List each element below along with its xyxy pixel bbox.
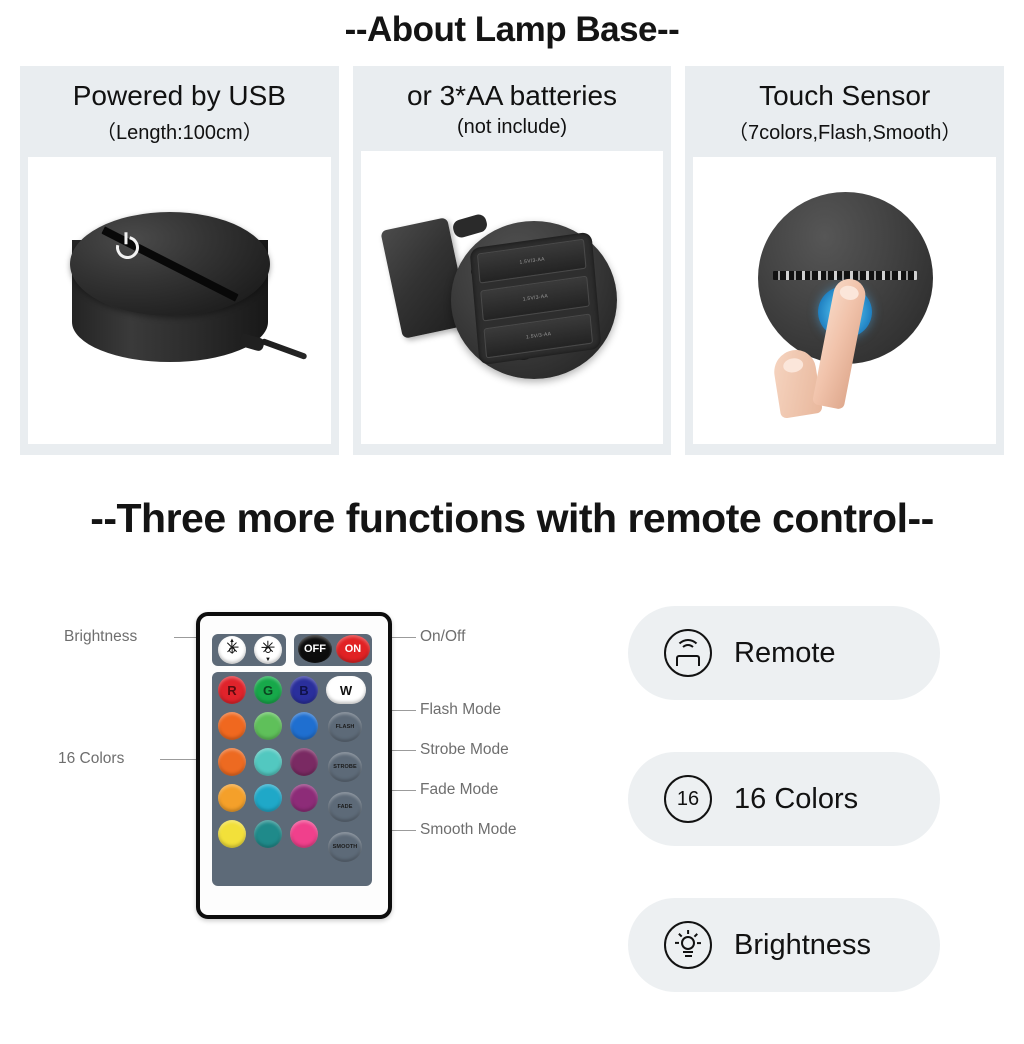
lamp-base-touch-sensor-photo <box>693 157 996 444</box>
battery-compartment-illustration: 1.5V/3-AA 1.5V/3-AA 1.5V/3-AA <box>387 203 637 393</box>
color-button-6[interactable] <box>290 748 318 776</box>
panel-title: Powered by USB <box>73 80 286 111</box>
lamp-base-illustration <box>54 206 304 396</box>
brightness-up-button[interactable]: ▲ <box>218 636 246 664</box>
page-title-about-lamp-base: --About Lamp Base-- <box>0 0 1024 47</box>
panel-aa-batteries: or 3*AA batteries (not include) 1.5V/3-A… <box>353 66 672 455</box>
feature-card-label: Brightness <box>734 929 871 962</box>
lamp-base-top <box>70 212 270 316</box>
color-button-r[interactable]: R <box>218 676 246 704</box>
panel-title: Touch Sensor <box>759 80 930 111</box>
panel-title: or 3*AA batteries <box>407 80 617 111</box>
color-button-2[interactable] <box>254 712 282 740</box>
remote-control-body[interactable]: ▲ ▼ OFF ON R G B <box>196 612 392 919</box>
callout-smooth-mode: Smooth Mode <box>420 821 517 839</box>
panel-touch-sensor: Touch Sensor （7colors,Flash,Smooth） <box>685 66 1004 455</box>
panel-powered-by-usb: Powered by USB （Length:100cm） <box>20 66 339 455</box>
color-button-7[interactable] <box>218 784 246 812</box>
color-button-b[interactable]: B <box>290 676 318 704</box>
callout-fade-mode: Fade Mode <box>420 781 498 799</box>
page-title-three-functions: --Three more functions with remote contr… <box>0 498 1024 539</box>
color-button-11[interactable] <box>254 820 282 848</box>
color-button-9[interactable] <box>290 784 318 812</box>
sun-up-icon: ▲ <box>226 644 239 657</box>
color-button-g[interactable]: G <box>254 676 282 704</box>
sixteen-badge-icon: 16 <box>664 775 712 823</box>
flash-button[interactable]: FLASH <box>328 712 362 742</box>
brightness-down-button[interactable]: ▼ <box>254 636 282 664</box>
panel-subtitle: （Length:100cm） <box>96 116 263 145</box>
sixteen-badge-text: 16 <box>677 788 699 811</box>
battery-slot: 1.5V/3-AA <box>481 275 591 320</box>
panel-subtitle: （7colors,Flash,Smooth） <box>728 116 961 145</box>
feature-card-label: 16 Colors <box>734 783 858 816</box>
usb-cable <box>261 338 308 360</box>
feature-card-brightness[interactable]: Brightness <box>628 898 940 992</box>
color-button-w[interactable]: W <box>326 676 366 704</box>
color-button-10[interactable] <box>218 820 246 848</box>
remote-control-section: Brightness 16 Colors On/Off Flash Mode S… <box>0 560 1024 1024</box>
feature-card-16-colors[interactable]: 16 16 Colors <box>628 752 940 846</box>
color-button-12[interactable] <box>290 820 318 848</box>
callout-strobe-mode: Strobe Mode <box>420 741 509 759</box>
callout-on-off: On/Off <box>420 628 465 646</box>
color-button-4[interactable] <box>218 748 246 776</box>
spec-panels-row: Powered by USB （Length:100cm） or 3*AA ba… <box>20 66 1004 455</box>
brightness-bulb-icon <box>664 921 712 969</box>
sun-down-icon: ▼ <box>262 644 275 657</box>
smooth-button[interactable]: SMOOTH <box>328 832 362 862</box>
feature-card-remote[interactable]: Remote <box>628 606 940 700</box>
callout-16-colors: 16 Colors <box>58 750 124 768</box>
feature-cards: Remote 16 16 Colors Brightness <box>628 606 940 1044</box>
fade-button[interactable]: FADE <box>328 792 362 822</box>
callout-flash-mode: Flash Mode <box>420 701 501 719</box>
battery-slot: 1.5V/3-AA <box>478 238 588 283</box>
lamp-base-underside: 1.5V/3-AA 1.5V/3-AA 1.5V/3-AA <box>451 221 617 379</box>
color-button-5[interactable] <box>254 748 282 776</box>
off-button[interactable]: OFF <box>298 635 332 663</box>
touch-sensor-illustration <box>720 190 970 400</box>
remote-diagram: Brightness 16 Colors On/Off Flash Mode S… <box>0 560 600 1024</box>
battery-bay: 1.5V/3-AA 1.5V/3-AA 1.5V/3-AA <box>470 231 602 365</box>
color-button-8[interactable] <box>254 784 282 812</box>
lamp-base-usb-photo <box>28 157 331 444</box>
lamp-base-battery-compartment-photo: 1.5V/3-AA 1.5V/3-AA 1.5V/3-AA <box>361 151 664 444</box>
color-button-3[interactable] <box>290 712 318 740</box>
battery-cover-hinge <box>451 212 489 239</box>
strobe-button[interactable]: STROBE <box>328 752 362 782</box>
remote-signal-icon <box>664 629 712 677</box>
color-button-1[interactable] <box>218 712 246 740</box>
on-button[interactable]: ON <box>336 635 370 663</box>
feature-card-label: Remote <box>734 637 836 670</box>
battery-slot: 1.5V/3-AA <box>484 313 594 358</box>
panel-subtitle: (not include) <box>457 116 567 139</box>
callout-brightness: Brightness <box>64 628 137 646</box>
